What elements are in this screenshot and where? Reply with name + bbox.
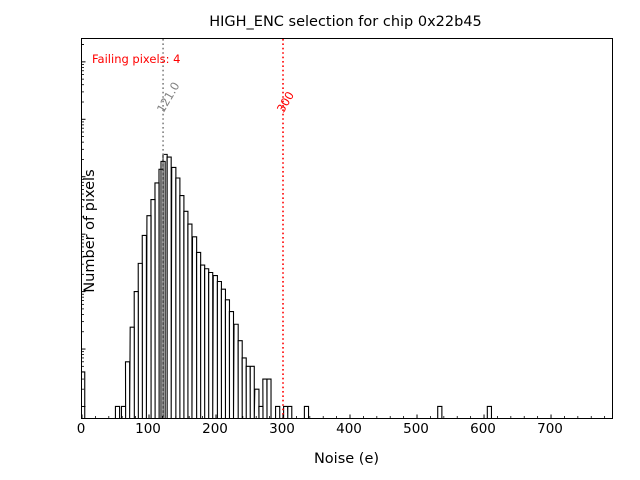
- x-axis-label: Noise (e): [81, 451, 612, 467]
- failing-pixels-annotation: Failing pixels: 4: [92, 52, 181, 66]
- figure-canvas: HIGH_ENC selection for chip 0x22b45 Fail…: [0, 0, 640, 480]
- x-tick-label: 700: [537, 421, 563, 437]
- x-tick-label: 500: [403, 421, 429, 437]
- histogram-steps: [82, 154, 491, 418]
- x-tick-label: 600: [470, 421, 496, 437]
- x-tick-label: 400: [336, 421, 362, 437]
- x-tick-label: 100: [135, 421, 161, 437]
- x-tick-label: 200: [202, 421, 228, 437]
- plot-area[interactable]: Failing pixels: 4 121.0 300 Number of pi…: [81, 38, 613, 419]
- vertical-marker-lines: [163, 39, 283, 418]
- histogram-outline: [82, 154, 491, 418]
- x-tick-label: 300: [269, 421, 295, 437]
- y-axis-label: Number of pixels: [82, 41, 98, 421]
- x-tick-label: 0: [77, 421, 86, 437]
- page-title: HIGH_ENC selection for chip 0x22b45: [80, 14, 611, 30]
